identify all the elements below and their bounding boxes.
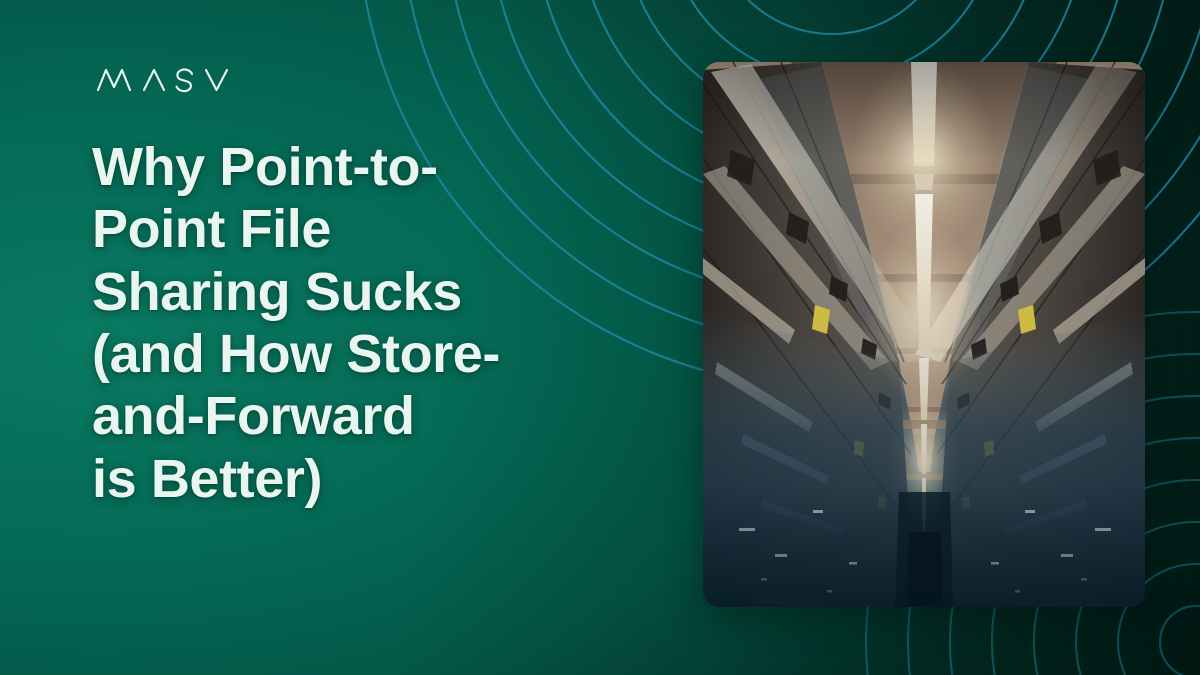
hero-image	[703, 62, 1145, 607]
page-title: Why Point-to- Point File Sharing Sucks (…	[92, 136, 562, 510]
social-share-card: Why Point-to- Point File Sharing Sucks (…	[0, 0, 1200, 675]
masv-logo[interactable]	[94, 58, 244, 102]
